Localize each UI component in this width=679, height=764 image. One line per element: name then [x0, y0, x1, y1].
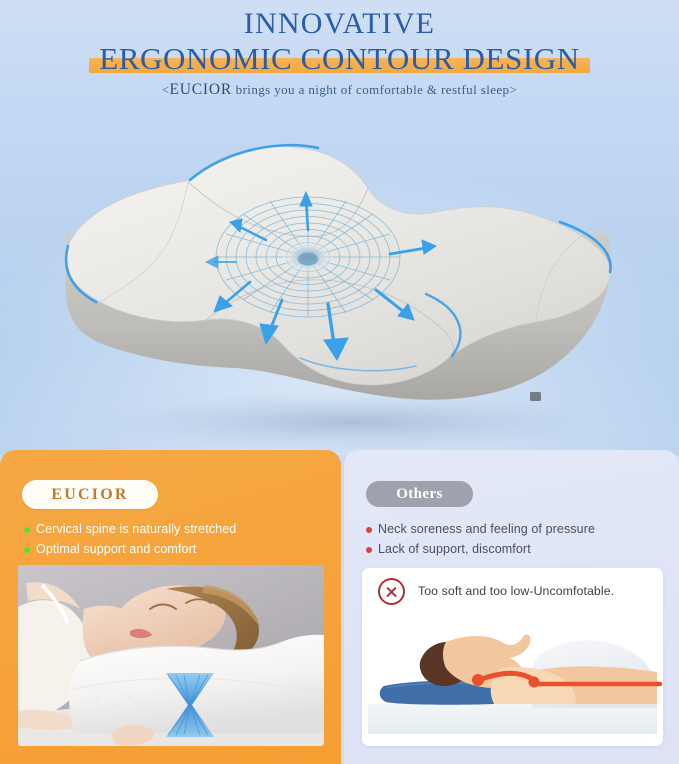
bullet-item: Lack of support, discomfort	[366, 541, 666, 558]
bullet-list-eucior: Cervical spine is naturally stretched Op…	[24, 521, 324, 561]
card-caption: Too soft and too low-Uncomfotable.	[418, 583, 657, 599]
bullet-label: Cervical spine is naturally stretched	[36, 521, 236, 538]
x-circle-icon	[378, 578, 405, 605]
bullet-dot-icon	[366, 547, 372, 553]
illustration-bad-posture-svg	[362, 608, 663, 746]
product-infographic: INNOVATIVE ERGONOMIC CONTOUR DESIGN <EUC…	[0, 0, 679, 764]
mattress	[368, 704, 657, 734]
bullet-dot-icon	[24, 547, 30, 553]
subtitle: <EUCIOR brings you a night of comfortabl…	[0, 81, 679, 99]
bullet-item: Neck soreness and feeling of pressure	[366, 521, 666, 538]
subtitle-rest: brings you a night of comfortable & rest…	[232, 82, 517, 97]
title-line-1: INNOVATIVE	[0, 8, 679, 40]
pillow-brand-tag	[530, 392, 541, 401]
bullet-label: Optimal support and comfort	[36, 541, 196, 558]
subtitle-open-bracket: <	[162, 82, 170, 97]
pillow-illustration	[38, 122, 646, 452]
dimple-hole	[298, 253, 318, 266]
card-others-problem: Too soft and too low-Uncomfotable.	[362, 568, 663, 746]
title-line-2-wrapper: ERGONOMIC CONTOUR DESIGN	[89, 42, 590, 76]
bullet-item: Cervical spine is naturally stretched	[24, 521, 324, 538]
badge-eucior: EUCIOR	[22, 480, 158, 509]
pillow-svg	[38, 122, 646, 452]
bullet-list-others: Neck soreness and feeling of pressure La…	[366, 521, 666, 561]
bullet-item: Optimal support and comfort	[24, 541, 324, 558]
subtitle-brand: EUCIOR	[170, 81, 233, 98]
photo-woman-sleeping-svg	[18, 565, 324, 746]
illustration-bad-posture	[362, 608, 663, 746]
bullet-dot-icon	[366, 527, 372, 533]
pillow-shadow	[103, 392, 603, 452]
bullet-dot-icon	[24, 527, 30, 533]
bullet-label: Lack of support, discomfort	[378, 541, 531, 558]
hero-section: INNOVATIVE ERGONOMIC CONTOUR DESIGN <EUC…	[0, 0, 679, 455]
bullet-label: Neck soreness and feeling of pressure	[378, 521, 595, 538]
title-line-2: ERGONOMIC CONTOUR DESIGN	[99, 42, 580, 76]
header-block: INNOVATIVE ERGONOMIC CONTOUR DESIGN <EUC…	[0, 8, 679, 99]
card-header: Too soft and too low-Uncomfotable.	[362, 568, 663, 612]
photo-woman-sleeping	[18, 565, 324, 746]
badge-others: Others	[366, 481, 473, 507]
